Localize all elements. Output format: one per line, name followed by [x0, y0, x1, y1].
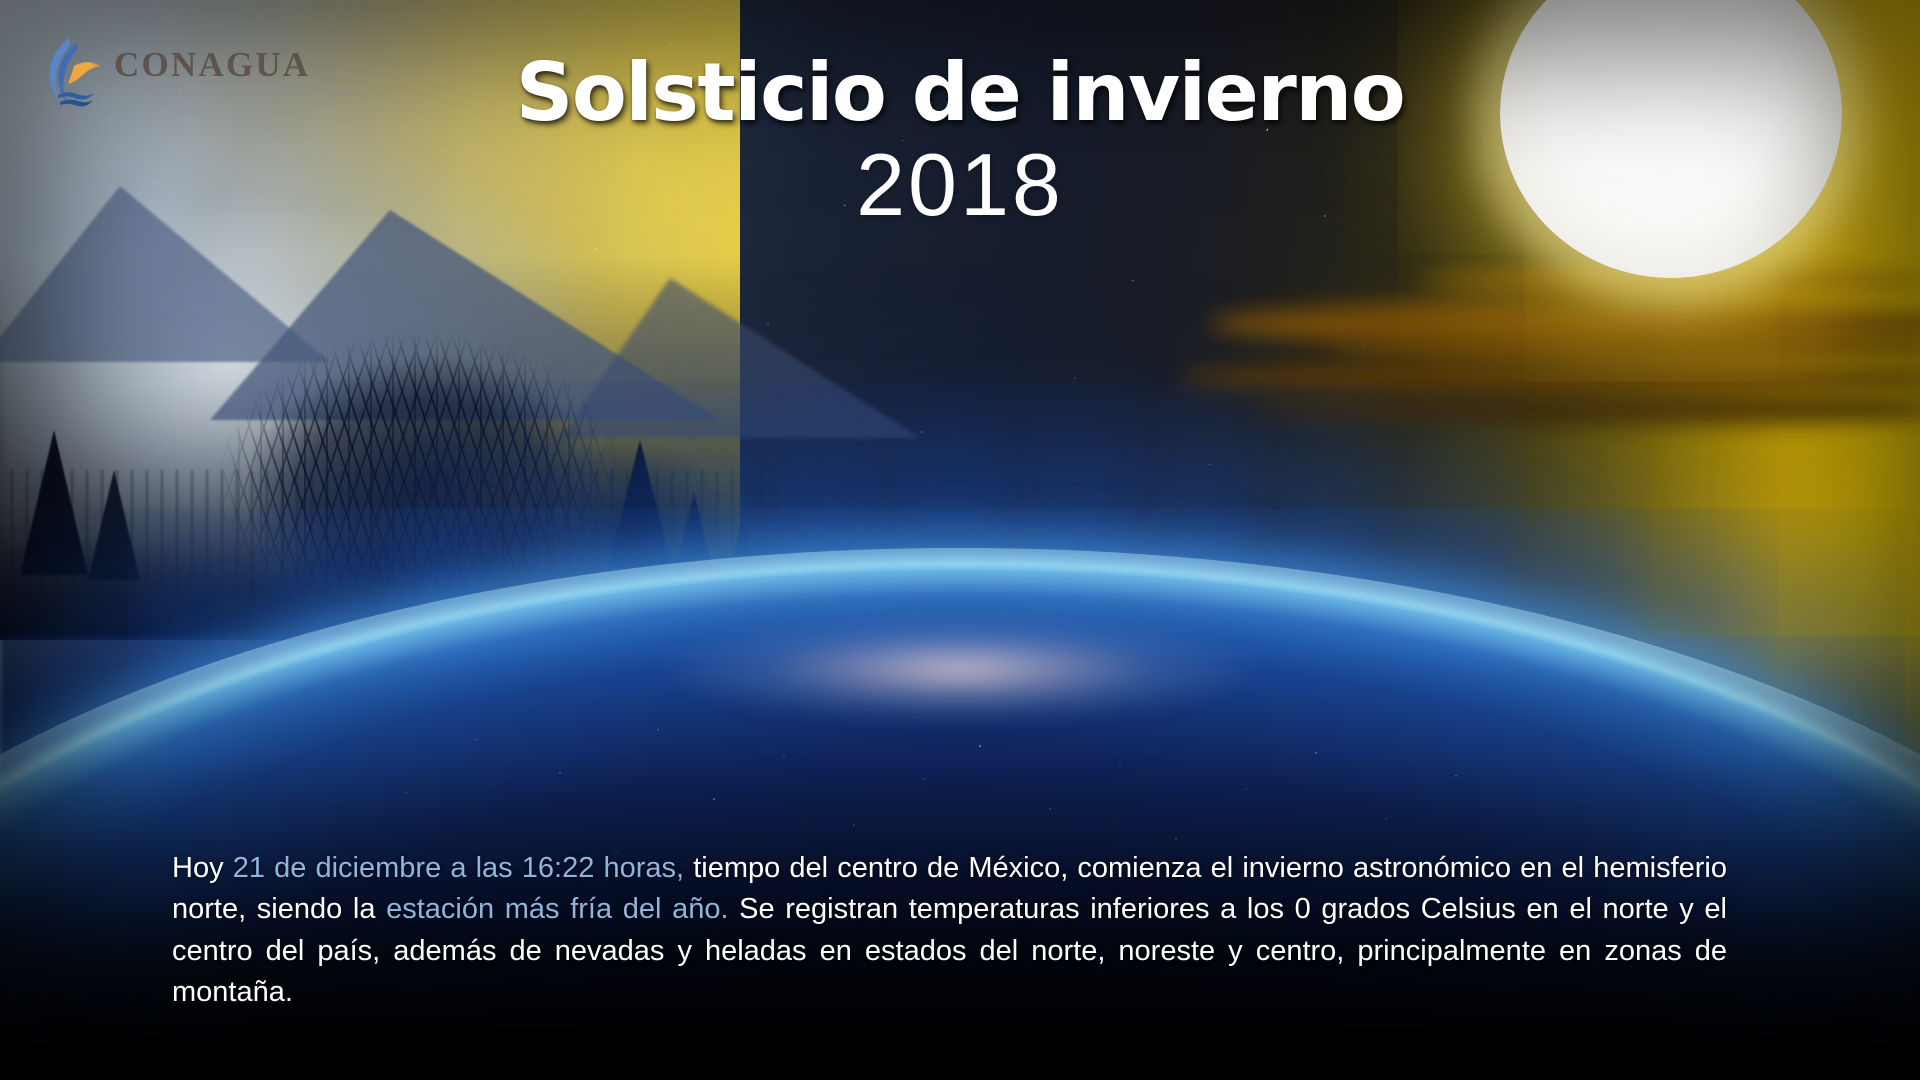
body-plain-text: Hoy — [172, 852, 233, 884]
body-paragraph: Hoy 21 de diciembre a las 16:22 horas, t… — [172, 848, 1727, 1013]
body-highlight-text: 21 de diciembre a las 16:22 horas, — [233, 852, 684, 884]
page-title: Solsticio de invierno — [0, 52, 1920, 134]
headline-block: Solsticio de invierno 2018 — [0, 52, 1920, 234]
year-label: 2018 — [0, 136, 1920, 235]
poster-canvas: CONAGUA COMISIÓN NACIONAL DEL AGUA Solst… — [0, 0, 1920, 1080]
body-highlight-text: estación más fría del año. — [386, 893, 728, 925]
